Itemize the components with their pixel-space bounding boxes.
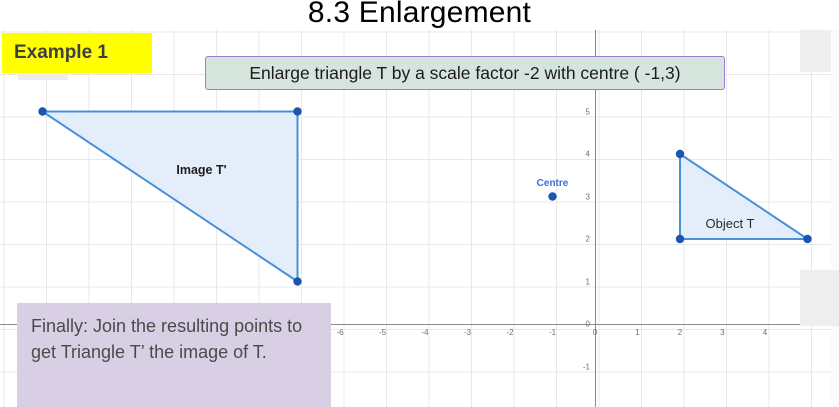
gray-panel-chip-top [800,30,831,72]
vertex-point [293,107,301,115]
vertex-point [803,235,811,243]
note-callout: Finally: Join the resulting points to ge… [17,303,331,407]
example-badge-label: Example 1 [14,42,108,64]
image-t-label: Image T' [176,163,226,177]
vertex-point [38,107,46,115]
note-text: Finally: Join the resulting points to ge… [31,316,302,362]
object-t-label: Object T [706,216,755,231]
vertex-point [676,235,684,243]
example-badge-shadow [18,73,68,80]
right-edge-strip [831,30,839,407]
centre-point [548,192,556,200]
gray-panel-chip-bottom [800,270,839,326]
vertex-point [676,150,684,158]
page-title: 8.3 Enlargement [0,0,839,30]
slide-canvas: 8.3 Enlargement -6-5-4-3-2-101234 -10123… [0,0,839,407]
shape-polygon [43,112,298,282]
instruction-callout: Enlarge triangle T by a scale factor -2 … [205,56,725,90]
centre-label: Centre [537,178,569,189]
example-badge: Example 1 [2,33,152,73]
instruction-text: Enlarge triangle T by a scale factor -2 … [249,63,680,84]
vertex-point [293,277,301,285]
